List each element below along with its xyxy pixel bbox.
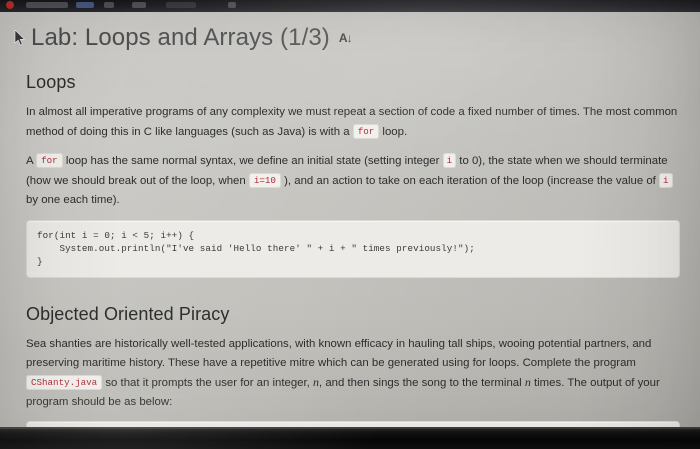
photographed-screen: Lab: Loops and Arrays (1/3) A↓ Loops In …	[0, 0, 700, 449]
paragraph-text: Sea shanties are historically well-teste…	[26, 338, 651, 369]
paragraph-text: loop.	[379, 126, 407, 138]
paragraph-loops-syntax: A for loop has the same normal syntax, w…	[26, 151, 686, 210]
page-title-row: Lab: Loops and Arrays (1/3) A↓	[14, 24, 686, 52]
paragraph-text: ), and an action to take on each iterati…	[281, 175, 659, 187]
chrome-tab-blur-1	[26, 2, 68, 8]
chrome-tab-blur-4	[132, 2, 146, 8]
code-block-text: for(int i = 0; i < 5; i++) { System.out.…	[37, 229, 669, 268]
chrome-tab-blur-6	[228, 2, 236, 8]
paragraph-text: In almost all imperative programs of any…	[26, 106, 677, 138]
page-title: Lab: Loops and Arrays (1/3)	[31, 24, 330, 52]
browser-chrome-strip	[0, 0, 700, 12]
paragraph-piracy: Sea shanties are historically well-teste…	[26, 335, 686, 412]
chrome-tab-blur-2	[76, 2, 94, 8]
document-page: Lab: Loops and Arrays (1/3) A↓ Loops In …	[0, 12, 700, 427]
section-heading-piracy: Objected Oriented Piracy	[26, 304, 686, 325]
chrome-tab-blur-3	[104, 2, 114, 8]
inline-code-i: i	[659, 173, 673, 188]
monitor-bottom-bezel	[0, 427, 700, 449]
browser-record-dot-icon	[6, 1, 14, 9]
paragraph-text: A	[26, 155, 36, 167]
paragraph-text: , and then sings the song to the termina…	[319, 377, 525, 389]
paragraph-text: by one each time).	[26, 194, 120, 206]
font-size-arrow-glyph: ↓	[347, 31, 352, 45]
inline-code-for: for	[36, 153, 63, 168]
font-size-a-arrow-icon[interactable]: A↓	[339, 31, 352, 45]
mouse-cursor-icon	[14, 30, 26, 46]
inline-code-cshanty-java: CShanty.java	[26, 375, 102, 390]
paragraph-text: loop has the same normal syntax, we defi…	[63, 155, 443, 167]
inline-code-for: for	[353, 124, 380, 139]
inline-code-i-equals-10: i=10	[249, 173, 281, 188]
code-block-for-loop: for(int i = 0; i < 5; i++) { System.out.…	[26, 220, 680, 278]
paragraph-text: so that it prompts the user for an integ…	[102, 377, 313, 389]
chrome-tab-blur-5	[166, 2, 196, 8]
inline-code-i: i	[443, 153, 457, 168]
font-size-a-glyph: A	[339, 31, 347, 45]
paragraph-loops-intro: In almost all imperative programs of any…	[26, 103, 686, 142]
section-heading-loops: Loops	[26, 72, 686, 93]
